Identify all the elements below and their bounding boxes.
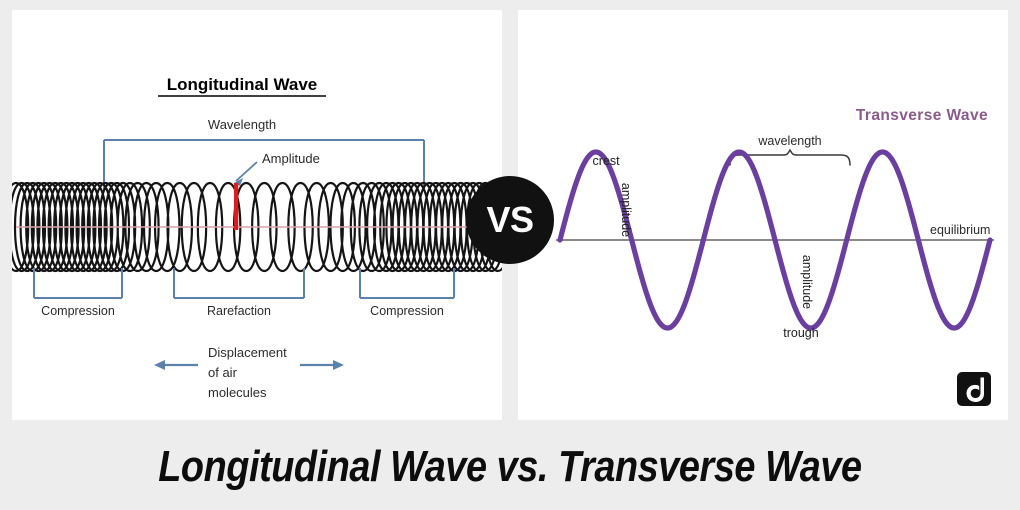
rarefaction-bracket — [174, 268, 304, 298]
comparison-graphic: Longitudinal Wave Wavelength Amplitude C… — [0, 0, 1020, 510]
displacement-label-line3: molecules — [208, 385, 267, 400]
transverse-wave-diagram: Transverse Wave wavelength equilibrium c… — [518, 10, 1008, 420]
trough-label: trough — [783, 326, 818, 340]
compression-left-label: Compression — [41, 304, 115, 318]
spring-coil — [12, 183, 502, 271]
longitudinal-title: Longitudinal Wave — [167, 75, 317, 94]
transverse-title: Transverse Wave — [856, 107, 988, 124]
longitudinal-wave-diagram: Longitudinal Wave Wavelength Amplitude C… — [12, 10, 502, 420]
caption-bar: Longitudinal Wave vs. Transverse Wave — [0, 424, 1020, 510]
displacement-label-line2: of air — [208, 365, 238, 380]
amplitude-label: Amplitude — [262, 151, 320, 166]
vs-label: VS — [486, 202, 533, 238]
compression-right-label: Compression — [370, 304, 444, 318]
logo-d-icon — [957, 372, 991, 406]
transverse-wave-panel: Transverse Wave wavelength equilibrium c… — [518, 10, 1008, 420]
displacement-right-arrow-icon — [300, 360, 344, 370]
compression-left-bracket — [34, 268, 122, 298]
caption-title: Longitudinal Wave vs. Transverse Wave — [158, 442, 861, 492]
equilibrium-label: equilibrium — [930, 223, 990, 237]
displacement-left-arrow-icon — [154, 360, 198, 370]
longitudinal-wave-panel: Longitudinal Wave Wavelength Amplitude C… — [12, 10, 502, 420]
compression-right-bracket — [360, 268, 454, 298]
amplitude-bar — [234, 183, 238, 230]
amplitude-pointer-line — [236, 162, 257, 181]
wavelength-label: wavelength — [757, 134, 821, 148]
brand-logo — [957, 372, 991, 406]
vs-badge: VS — [466, 176, 554, 264]
amplitude-crest-label: amplitude — [619, 183, 633, 237]
wavelength-label: Wavelength — [208, 117, 276, 132]
displacement-label-line1: Displacement — [208, 345, 287, 360]
amplitude-trough-label: amplitude — [800, 255, 814, 309]
rarefaction-label: Rarefaction — [207, 304, 271, 318]
crest-label: crest — [592, 154, 620, 168]
